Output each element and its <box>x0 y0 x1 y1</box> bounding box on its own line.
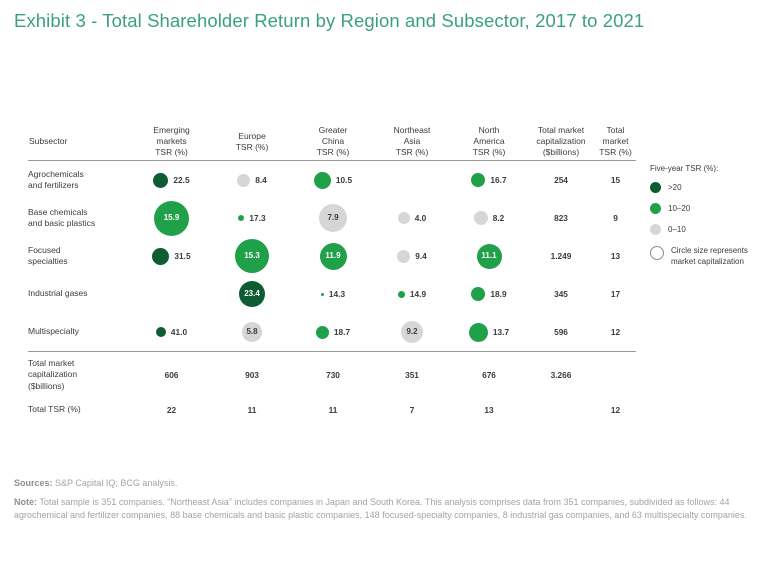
row-total-tsr: 9 <box>595 199 636 237</box>
bubble-circle: 15.3 <box>235 239 269 273</box>
row-label-line: Multispecialty <box>28 326 132 338</box>
bubble-group: 17.3 <box>211 199 293 237</box>
bubble-value: 5.8 <box>246 328 257 336</box>
header-line: Emerging <box>132 125 211 136</box>
bubble-circle <box>153 173 168 188</box>
bubble-cell[interactable]: 4.0 <box>373 199 451 237</box>
bubble-group: 8.2 <box>451 199 527 237</box>
legend-item-10-20: 10–20 <box>650 203 766 214</box>
row-total-market-cap: 1.249 <box>527 237 595 275</box>
column-header-emerging-markets: Emerging markets TSR (%) <box>132 125 211 158</box>
bubble-value: 18.7 <box>334 327 350 337</box>
bubble-value: 16.7 <box>490 175 506 185</box>
bubble-value: 41.0 <box>171 327 187 337</box>
bubble-circle: 11.1 <box>477 244 502 269</box>
note-text: Total sample is 351 companies. “Northeas… <box>14 497 747 520</box>
bubble-group: 15.3 <box>211 237 293 275</box>
bubble-cell[interactable]: 5.8 <box>211 313 293 352</box>
bubble-value: 15.3 <box>244 252 260 260</box>
bubble-group: 11.9 <box>293 237 373 275</box>
bubble-cell[interactable]: 14.3 <box>293 275 373 313</box>
row-label: Total TSR (%) <box>28 397 132 423</box>
row-total-tsr: 17 <box>595 275 636 313</box>
column-header-north-america: North America TSR (%) <box>451 125 527 158</box>
bubble-group: 14.9 <box>373 275 451 313</box>
header-line: Subsector <box>29 136 132 147</box>
header-line: Asia <box>373 136 451 147</box>
bubble-group: 23.4 <box>211 275 293 313</box>
table-row: Focusedspecialties31.515.311.99.411.11.2… <box>28 237 636 275</box>
row-total-tsr: 15 <box>595 161 636 200</box>
grand-total-market-cap: 3.266 <box>527 353 595 397</box>
note-label: Note: <box>14 497 37 507</box>
header-line: China <box>293 136 373 147</box>
row-label: Base chemicalsand basic plastics <box>28 199 132 237</box>
bubble-circle <box>471 287 485 301</box>
row-total-market-cap: 596 <box>527 313 595 352</box>
bubble-group: 31.5 <box>132 237 211 275</box>
grand-total-market-cap <box>527 397 595 423</box>
bubble-cell[interactable] <box>132 275 211 313</box>
total-value: 903 <box>211 353 293 397</box>
bubble-group: 11.1 <box>451 237 527 275</box>
bubble-circle: 23.4 <box>239 281 265 307</box>
bubble-cell[interactable]: 10.5 <box>293 161 373 200</box>
page-title: Exhibit 3 - Total Shareholder Return by … <box>14 8 734 34</box>
bubble-cell[interactable]: 11.9 <box>293 237 373 275</box>
table-row: Multispecialty41.05.818.79.213.759612 <box>28 313 636 352</box>
bubble-value: 13.7 <box>493 327 509 337</box>
bubble-group: 9.4 <box>373 237 451 275</box>
bubble-chart-table: Subsector Emerging markets TSR (%) Europ… <box>28 125 636 423</box>
bubble-cell[interactable]: 15.3 <box>211 237 293 275</box>
header-line: TSR (%) <box>132 147 211 158</box>
bubble-circle: 5.8 <box>242 322 262 342</box>
header-line: TSR (%) <box>595 147 636 158</box>
bubble-value: 7.9 <box>327 214 338 222</box>
bubble-value: 15.9 <box>164 214 180 222</box>
bubble-cell[interactable]: 9.2 <box>373 313 451 352</box>
row-label: Multispecialty <box>28 313 132 352</box>
row-label: Agrochemicalsand fertilizers <box>28 161 132 200</box>
table-row: Agrochemicalsand fertilizers22.58.410.51… <box>28 161 636 200</box>
bubble-group: 7.9 <box>293 199 373 237</box>
bubble-cell[interactable]: 8.4 <box>211 161 293 200</box>
bubble-circle <box>156 327 166 337</box>
bubble-group: 41.0 <box>132 313 211 351</box>
header-line: ($billions) <box>527 147 595 158</box>
header-line: capitalization <box>527 136 595 147</box>
total-value: 606 <box>132 353 211 397</box>
total-market-cap-row: Total marketcapitalization($billions)606… <box>28 353 636 397</box>
bubble-group: 22.5 <box>132 161 211 199</box>
hollow-circle-icon <box>650 246 664 260</box>
table-body: Agrochemicalsand fertilizers22.58.410.51… <box>28 161 636 424</box>
bubble-cell[interactable]: 11.1 <box>451 237 527 275</box>
note-footnote: Note: Total sample is 351 companies. “No… <box>14 496 756 522</box>
bubble-cell[interactable]: 23.4 <box>211 275 293 313</box>
row-total-market-cap: 254 <box>527 161 595 200</box>
bubble-value: 9.2 <box>406 328 417 336</box>
bubble-circle <box>316 326 329 339</box>
row-label-line: Agrochemicals <box>28 169 132 181</box>
bubble-group: 10.5 <box>293 161 373 199</box>
legend-item-0-10: 0–10 <box>650 224 766 235</box>
gray-circle-icon <box>650 224 661 235</box>
bubble-circle: 7.9 <box>319 204 347 232</box>
mid-green-circle-icon <box>650 203 661 214</box>
bubble-value: 4.0 <box>415 213 427 223</box>
row-total-market-cap: 823 <box>527 199 595 237</box>
bubble-cell[interactable]: 31.5 <box>132 237 211 275</box>
bubble-cell[interactable]: 41.0 <box>132 313 211 352</box>
total-tsr-row: Total TSR (%)22111171312 <box>28 397 636 423</box>
table-row: Industrial gases23.414.314.918.934517 <box>28 275 636 313</box>
bubble-cell[interactable]: 15.9 <box>132 199 211 237</box>
bubble-group: 15.9 <box>132 199 211 237</box>
header-line: North <box>451 125 527 136</box>
total-value: 676 <box>451 353 527 397</box>
bubble-circle <box>314 172 331 189</box>
bubble-cell[interactable]: 14.9 <box>373 275 451 313</box>
bubble-value: 14.9 <box>410 289 426 299</box>
tsr-table: Subsector Emerging markets TSR (%) Europ… <box>28 125 636 423</box>
bubble-group: 13.7 <box>451 313 527 351</box>
legend-size-note-line: market capitalization <box>671 257 744 266</box>
column-header-total-market-tsr: Total market TSR (%) <box>595 125 636 158</box>
legend-size-note: Circle size represents market capitaliza… <box>650 245 766 267</box>
header-line: Northeast <box>373 125 451 136</box>
bubble-circle <box>237 174 250 187</box>
column-header-greater-china: Greater China TSR (%) <box>293 125 373 158</box>
total-value: 22 <box>132 397 211 423</box>
header-line: Total <box>595 125 636 136</box>
header-line: Total market <box>527 125 595 136</box>
bubble-value: 14.3 <box>329 289 345 299</box>
header-line: markets <box>132 136 211 147</box>
row-label-line: Total market <box>28 358 132 370</box>
bubble-cell[interactable] <box>373 161 451 200</box>
bubble-circle: 9.2 <box>401 321 423 343</box>
legend-title: Five-year TSR (%): <box>650 164 766 173</box>
bubble-group: 9.2 <box>373 313 451 351</box>
bubble-cell[interactable]: 13.7 <box>451 313 527 352</box>
bubble-circle <box>238 215 244 221</box>
legend-size-note-line: Circle size represents <box>671 246 748 255</box>
row-label-line: Base chemicals <box>28 207 132 219</box>
bubble-group: 18.7 <box>293 313 373 351</box>
header-line: TSR (%) <box>211 142 293 153</box>
bubble-circle <box>398 291 405 298</box>
row-label: Focusedspecialties <box>28 237 132 275</box>
bubble-circle <box>321 293 324 296</box>
bubble-circle: 11.9 <box>320 243 347 270</box>
legend-item-label: 0–10 <box>668 224 686 235</box>
grand-total-tsr: 12 <box>595 397 636 423</box>
bubble-circle <box>397 250 410 263</box>
bubble-circle <box>398 212 410 224</box>
row-label-line: specialties <box>28 256 132 268</box>
header-line: TSR (%) <box>293 147 373 158</box>
header-line: Europe <box>211 131 293 142</box>
column-header-subsector: Subsector <box>28 125 132 158</box>
bubble-value: 8.4 <box>255 175 267 185</box>
bubble-group: 4.0 <box>373 199 451 237</box>
bubble-value: 22.5 <box>173 175 189 185</box>
bubble-circle <box>471 173 485 187</box>
bubble-value: 18.9 <box>490 289 506 299</box>
column-header-total-market-cap: Total market capitalization ($billions) <box>527 125 595 158</box>
total-value: 11 <box>211 397 293 423</box>
table-head: Subsector Emerging markets TSR (%) Europ… <box>28 125 636 161</box>
header-line: TSR (%) <box>373 147 451 158</box>
bubble-cell[interactable]: 16.7 <box>451 161 527 200</box>
bubble-cell[interactable]: 22.5 <box>132 161 211 200</box>
bubble-group: 14.3 <box>293 275 373 313</box>
total-value: 11 <box>293 397 373 423</box>
bubble-circle: 15.9 <box>154 201 189 236</box>
bubble-circle <box>152 248 169 265</box>
bubble-value: 8.2 <box>493 213 505 223</box>
row-label-line: ($billions) <box>28 381 132 393</box>
column-header-northeast-asia: Northeast Asia TSR (%) <box>373 125 451 158</box>
bubble-group: 5.8 <box>211 313 293 351</box>
sources-text: S&P Capital IQ; BCG analysis. <box>53 478 178 488</box>
bubble-cell[interactable]: 8.2 <box>451 199 527 237</box>
chart-legend: Five-year TSR (%): >20 10–20 0–10 Circle… <box>650 164 766 277</box>
bubble-cell[interactable]: 18.7 <box>293 313 373 352</box>
column-header-europe: Europe TSR (%) <box>211 125 293 158</box>
header-line: Greater <box>293 125 373 136</box>
bubble-cell[interactable]: 9.4 <box>373 237 451 275</box>
row-label: Industrial gases <box>28 275 132 313</box>
row-label-line: and basic plastics <box>28 218 132 230</box>
header-line: market <box>595 136 636 147</box>
grand-total-tsr <box>595 353 636 397</box>
bubble-circle <box>474 211 488 225</box>
total-value: 351 <box>373 353 451 397</box>
bubble-value: 23.4 <box>244 290 260 298</box>
bubble-value: 10.5 <box>336 175 352 185</box>
bubble-value: 17.3 <box>249 213 265 223</box>
bubble-cell[interactable]: 18.9 <box>451 275 527 313</box>
table-row: Base chemicalsand basic plastics15.917.3… <box>28 199 636 237</box>
sources-footnote: Sources: S&P Capital IQ; BCG analysis. <box>14 477 756 490</box>
row-label-line: Industrial gases <box>28 288 132 300</box>
row-label-line: and fertilizers <box>28 180 132 192</box>
row-label-line: Focused <box>28 245 132 257</box>
bubble-value: 31.5 <box>174 251 190 261</box>
bubble-cell[interactable]: 7.9 <box>293 199 373 237</box>
bubble-value: 11.9 <box>325 252 340 260</box>
bubble-circle <box>469 323 488 342</box>
total-value: 13 <box>451 397 527 423</box>
row-total-market-cap: 345 <box>527 275 595 313</box>
row-label-line: capitalization <box>28 369 132 381</box>
dark-green-circle-icon <box>650 182 661 193</box>
row-label: Total marketcapitalization($billions) <box>28 353 132 397</box>
bubble-value: 11.1 <box>481 252 496 260</box>
legend-item-label: >20 <box>668 182 682 193</box>
header-line: TSR (%) <box>451 147 527 158</box>
row-total-tsr: 12 <box>595 313 636 352</box>
bubble-group: 8.4 <box>211 161 293 199</box>
header-line: America <box>451 136 527 147</box>
row-total-tsr: 13 <box>595 237 636 275</box>
sources-label: Sources: <box>14 478 53 488</box>
legend-size-note-text: Circle size represents market capitaliza… <box>671 245 748 267</box>
bubble-cell[interactable]: 17.3 <box>211 199 293 237</box>
bubble-value: 9.4 <box>415 251 427 261</box>
bubble-group: 16.7 <box>451 161 527 199</box>
legend-item-gt20: >20 <box>650 182 766 193</box>
total-value: 730 <box>293 353 373 397</box>
bubble-group: 18.9 <box>451 275 527 313</box>
legend-item-label: 10–20 <box>668 203 690 214</box>
table-header-row: Subsector Emerging markets TSR (%) Europ… <box>28 125 636 158</box>
total-value: 7 <box>373 397 451 423</box>
